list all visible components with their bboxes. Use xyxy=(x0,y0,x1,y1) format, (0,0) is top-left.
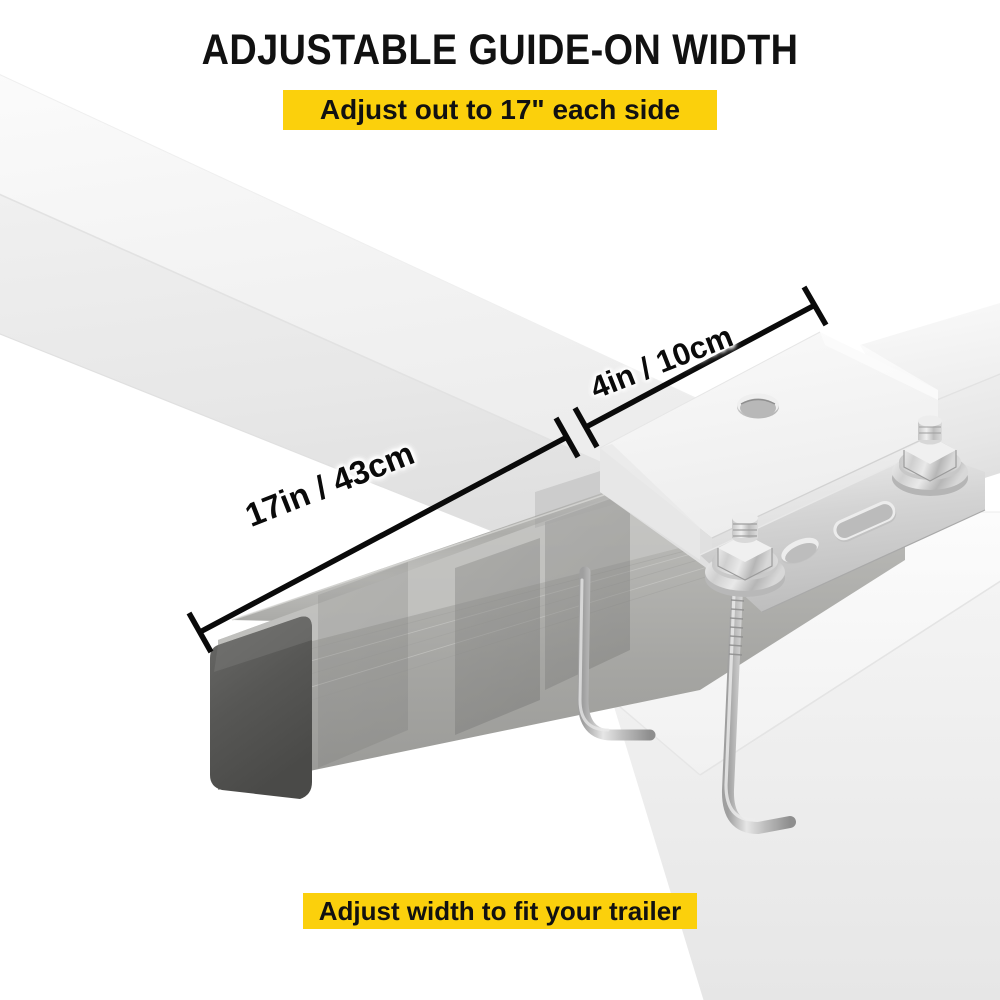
top-callout-banner: Adjust out to 17" each side xyxy=(283,90,717,130)
bracket-round-hole-top xyxy=(737,394,779,419)
tube-end-cap xyxy=(210,616,312,799)
product-illustration xyxy=(0,0,1000,1000)
stud-threads-rear xyxy=(918,416,942,445)
bottom-callout-banner: Adjust width to fit your trailer xyxy=(303,893,697,929)
top-callout-text: Adjust out to 17" each side xyxy=(320,94,680,126)
bottom-callout-text: Adjust width to fit your trailer xyxy=(319,896,682,927)
page-title: ADJUSTABLE GUIDE-ON WIDTH xyxy=(60,24,940,76)
product-infographic: ADJUSTABLE GUIDE-ON WIDTH Adjust out to … xyxy=(0,0,1000,1000)
stud-threads-front xyxy=(732,512,758,543)
